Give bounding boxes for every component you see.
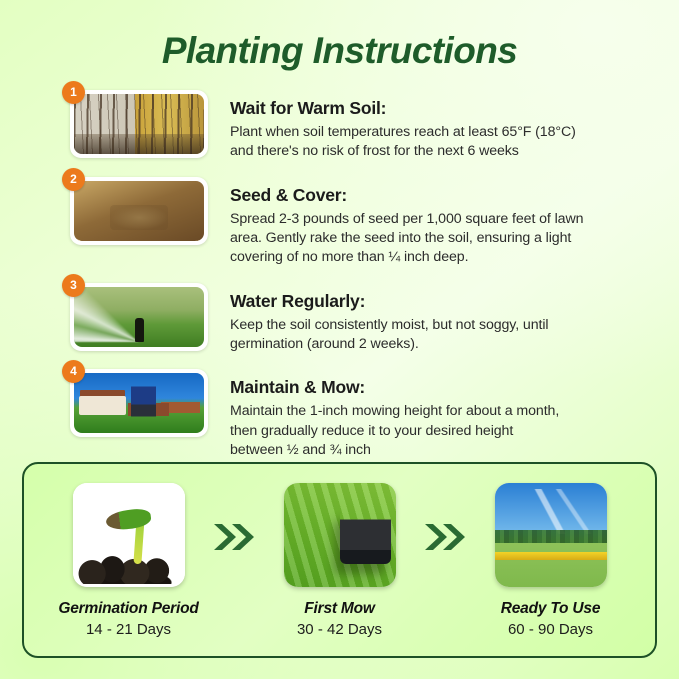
- step-text: Water Regularly: Keep the soil consisten…: [230, 283, 653, 355]
- step-heading: Seed & Cover:: [230, 185, 653, 206]
- step-body: Plant when soil temperatures reach at le…: [230, 123, 653, 162]
- step-item: 1 Wait for Warm Soil: Plant when soil te…: [70, 90, 653, 162]
- soil-shape: [78, 547, 179, 584]
- treeline-shape: [495, 530, 607, 542]
- step-heading: Wait for Warm Soil:: [230, 98, 653, 119]
- seedling-image: [73, 483, 185, 587]
- steps-list: 1 Wait for Warm Soil: Plant when soil te…: [0, 90, 679, 460]
- timeline-label: Ready To Use: [501, 600, 601, 618]
- double-chevron-right-icon: [211, 520, 257, 554]
- step-thumbnail: [70, 283, 208, 351]
- step-item: 3 Water Regularly: Keep the soil consist…: [70, 283, 653, 355]
- mower-lawn-image: [284, 483, 396, 587]
- infographic-page: Planting Instructions 1 Wait for Warm So…: [0, 0, 679, 679]
- timeline-days: 60 - 90 Days: [508, 621, 593, 638]
- timeline-days: 30 - 42 Days: [297, 621, 382, 638]
- step-thumbnail: [70, 369, 208, 437]
- straw-image: [74, 181, 204, 241]
- step-item: 4 Maintain & Mow: Maintain the 1-inch mo…: [70, 369, 653, 460]
- timeline-thumbnail: [495, 483, 607, 587]
- timeline-label: First Mow: [304, 600, 375, 618]
- step-text: Seed & Cover: Spread 2-3 pounds of seed …: [230, 177, 653, 268]
- double-chevron-right-icon: [422, 520, 468, 554]
- step-thumbnail: [70, 177, 208, 245]
- timeline-thumbnail: [73, 483, 185, 587]
- page-title: Planting Instructions: [0, 0, 679, 69]
- timeline-stage: Germination Period 14 - 21 Days: [46, 483, 211, 638]
- step-heading: Water Regularly:: [230, 291, 653, 312]
- step-item: 2 Seed & Cover: Spread 2-3 pounds of see…: [70, 177, 653, 268]
- step-thumbnail-wrap: 2: [70, 177, 208, 245]
- step-text: Maintain & Mow: Maintain the 1-inch mowi…: [230, 369, 653, 460]
- step-heading: Maintain & Mow:: [230, 377, 653, 398]
- mowing-image: [74, 373, 204, 433]
- leaf-shape: [105, 507, 152, 531]
- step-text: Wait for Warm Soil: Plant when soil temp…: [230, 90, 653, 162]
- timeline-label: Germination Period: [58, 600, 198, 618]
- trees-image: [74, 94, 204, 154]
- sprinkler-image: [74, 287, 204, 347]
- step-number-badge: 1: [62, 81, 85, 104]
- step-number-badge: 3: [62, 274, 85, 297]
- step-body: Spread 2-3 pounds of seed per 1,000 squa…: [230, 210, 653, 268]
- timeline-stage: First Mow 30 - 42 Days: [257, 483, 422, 638]
- timeline-panel: Germination Period 14 - 21 Days First Mo…: [22, 462, 657, 658]
- step-body: Keep the soil consistently moist, but no…: [230, 316, 653, 355]
- timeline-thumbnail: [284, 483, 396, 587]
- timeline-days: 14 - 21 Days: [86, 621, 171, 638]
- step-thumbnail: [70, 90, 208, 158]
- step-number-badge: 2: [62, 168, 85, 191]
- step-thumbnail-wrap: 3: [70, 283, 208, 351]
- step-thumbnail-wrap: 1: [70, 90, 208, 158]
- step-body: Maintain the 1-inch mowing height for ab…: [230, 402, 653, 460]
- step-thumbnail-wrap: 4: [70, 369, 208, 437]
- timeline-stage: Ready To Use 60 - 90 Days: [468, 483, 633, 638]
- sports-field-image: [495, 483, 607, 587]
